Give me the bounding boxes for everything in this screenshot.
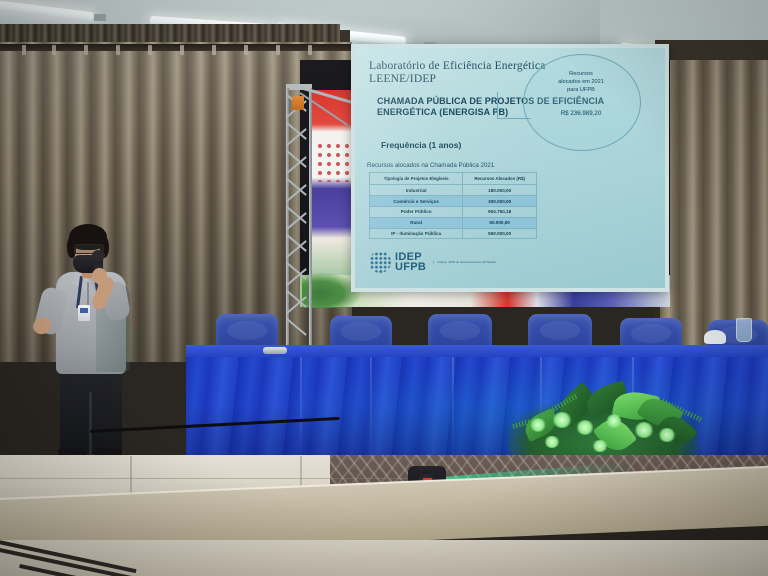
slide-table-caption: Recursos alocados na Chamada Pública 202… <box>367 162 494 169</box>
truss-rail-right <box>309 88 312 350</box>
photograph-conference-presentation: Laboratório de Eficiência Energética LEE… <box>0 0 768 576</box>
curtain-ring <box>212 45 216 55</box>
curtain-ring <box>22 45 26 55</box>
logo-tagline: Instituto UFPB de Desenvolvimento da Par… <box>433 260 496 264</box>
callout-value: R$ 236.989,20 <box>531 110 631 117</box>
flower-bloom <box>576 420 594 435</box>
speaker-hand-right <box>92 268 107 284</box>
callout-line3: para UFPB <box>531 86 631 94</box>
idep-dots-icon <box>369 251 391 273</box>
flower-bloom <box>634 422 654 438</box>
table-row: Rural 50.000,00 <box>370 217 537 228</box>
flower-bloom <box>606 414 622 428</box>
flower-bloom <box>530 418 546 432</box>
row-label: Comércio e Serviços <box>370 196 463 207</box>
microphone-icon <box>92 250 105 261</box>
curtain-ring <box>244 45 248 55</box>
flower-bloom <box>658 428 676 442</box>
callout-leader-line-2 <box>497 92 498 119</box>
flower-bloom <box>552 412 572 428</box>
projection-screen: Laboratório de Eficiência Energética LEE… <box>355 48 665 288</box>
truss-clamp <box>292 96 304 110</box>
row-value: 550.000,00 <box>463 228 537 239</box>
presentation-clicker <box>263 347 287 354</box>
truss-brace <box>286 318 306 336</box>
speaker-leg-separation <box>89 392 92 454</box>
curtain-ring <box>180 45 184 55</box>
table-row: Poder Público 904.750,18 <box>370 206 537 217</box>
water-glass <box>736 318 752 342</box>
logo-name-bottom: UFPB <box>395 262 426 272</box>
slide-section-heading: Frequência (1 anos) <box>381 140 461 150</box>
stage-curtain-right <box>660 60 768 360</box>
row-value: 180.000,00 <box>463 185 537 196</box>
logo-wordmark: IDEP UFPB <box>395 252 426 272</box>
row-label: IP - Iluminação Pública <box>370 228 463 239</box>
tube-mount-1 <box>94 14 106 21</box>
row-value: 300.000,00 <box>463 196 537 207</box>
curtain-ring <box>276 45 280 55</box>
napkin <box>704 330 726 344</box>
callout-ellipse <box>523 54 641 151</box>
auditorium-floor <box>0 540 768 576</box>
lighting-truss-tower <box>286 88 312 350</box>
row-label: Industrial <box>370 185 463 196</box>
idep-ufpb-logo: IDEP UFPB Instituto UFPB de Desenvolvime… <box>369 251 496 273</box>
table-row: IP - Iluminação Pública 550.000,00 <box>370 228 537 239</box>
curtain-ring <box>148 45 152 55</box>
row-label: Poder Público <box>370 206 463 217</box>
curtain-ring <box>52 45 56 55</box>
curtain-ring <box>308 45 312 55</box>
row-label: Rural <box>370 217 463 228</box>
callout-leader-line <box>497 118 531 119</box>
column-header-recursos: Recursos Alocados (R$) <box>463 173 537 185</box>
callout-text: Recursos alocados em 2021 para UFPB <box>531 70 631 94</box>
flower-bloom <box>592 440 608 452</box>
table-header-row: Tipologia de Projetos Elegíveis Recursos… <box>370 173 537 185</box>
flower-bloom <box>544 436 560 448</box>
table-row: Comércio e Serviços 300.000,00 <box>370 196 537 207</box>
callout-line2: alocados em 2021 <box>531 78 631 86</box>
row-value: 904.750,18 <box>463 206 537 217</box>
table-row: Industrial 180.000,00 <box>370 185 537 196</box>
curtain-ring <box>84 45 88 55</box>
speaker-id-badge <box>78 305 90 321</box>
column-header-tipologia: Tipologia de Projetos Elegíveis <box>370 173 463 185</box>
resources-table: Tipologia de Projetos Elegíveis Recursos… <box>369 172 537 239</box>
row-value: 50.000,00 <box>463 217 537 228</box>
callout-line1: Recursos <box>531 70 631 78</box>
curtain-ring <box>116 45 120 55</box>
